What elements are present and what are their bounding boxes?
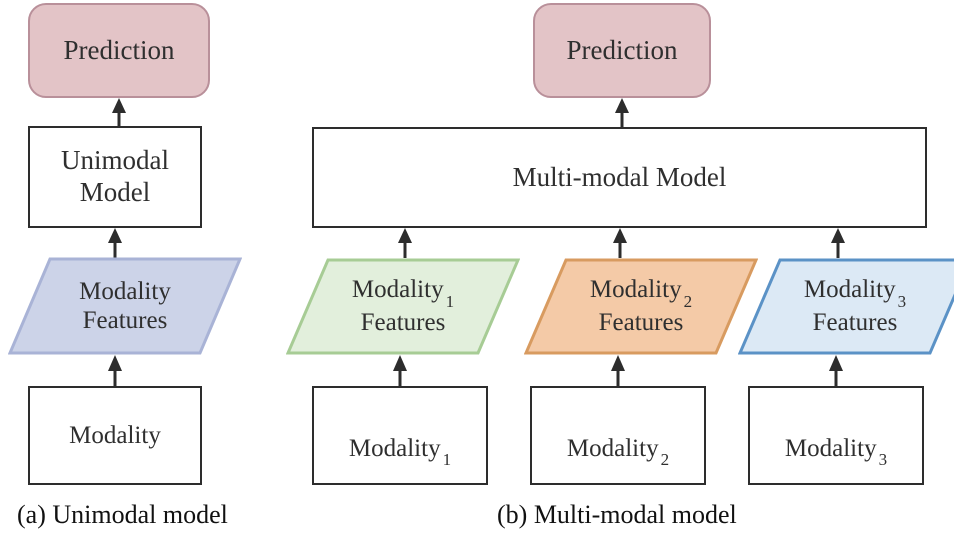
panel-b-features-1-subscript: 1	[444, 292, 455, 311]
panel-b-input-1-label: Modality1	[349, 404, 451, 467]
panel-a-arrow-features-to-model	[105, 228, 125, 258]
panel-b-input-3-label: Modality3	[785, 404, 887, 467]
panel-b-features-3-subscript: 3	[896, 292, 907, 311]
panel-b-input-1-node[interactable]: Modality1	[312, 386, 488, 485]
panel-b-features-2-label: Modality2 Features	[590, 275, 692, 338]
panel-b-input-2-text: Modality	[567, 435, 659, 462]
panel-a-arrow-input-to-features	[105, 355, 125, 387]
panel-b-model-node[interactable]: Multi-modal Model	[312, 127, 927, 228]
panel-b-arrow-input1-to-features1	[390, 355, 410, 387]
panel-a-features-label: Modality Features	[79, 277, 171, 336]
panel-b-features-2-line1: Modality	[590, 276, 682, 303]
panel-b-features-1-line2: Features	[361, 309, 446, 336]
panel-b-arrow-model-to-prediction	[612, 98, 632, 129]
panel-b-caption: (b) Multi-modal model	[497, 500, 737, 530]
panel-a-arrow-model-to-prediction	[109, 98, 129, 128]
panel-a-caption: (a) Unimodal model	[17, 500, 228, 530]
panel-a-features-node[interactable]: Modality Features	[8, 257, 242, 355]
panel-a-model-label: Unimodal Model	[61, 145, 169, 209]
panel-b-arrow-input2-to-features2	[608, 355, 628, 387]
panel-a-prediction-label: Prediction	[64, 35, 175, 67]
panel-b-features-1-label: Modality1 Features	[352, 275, 454, 338]
panel-b-arrow-features3-to-model	[828, 228, 848, 258]
panel-b-features-3-line1: Modality	[804, 276, 896, 303]
panel-a-input-node[interactable]: Modality	[28, 386, 202, 485]
panel-b-features-2-node[interactable]: Modality2 Features	[524, 258, 758, 355]
panel-b-input-3-node[interactable]: Modality3	[748, 386, 924, 485]
panel-b-features-1-node[interactable]: Modality1 Features	[286, 258, 520, 355]
panel-b-features-3-node[interactable]: Modality3 Features	[738, 258, 954, 355]
panel-b-features-3-label: Modality3 Features	[804, 275, 906, 338]
panel-b-prediction-label: Prediction	[567, 35, 678, 67]
panel-b-model-label: Multi-modal Model	[513, 162, 727, 194]
panel-b-input-2-label: Modality2	[567, 404, 669, 467]
panel-b-input-1-text: Modality	[349, 435, 441, 462]
panel-b-input-2-subscript: 2	[659, 450, 670, 469]
panel-b-arrow-features1-to-model	[395, 228, 415, 258]
panel-b-arrow-input3-to-features3	[826, 355, 846, 387]
panel-b-features-3-line2: Features	[813, 309, 898, 336]
panel-b-input-1-subscript: 1	[441, 450, 452, 469]
panel-b-input-3-text: Modality	[785, 435, 877, 462]
panel-a-input-label: Modality	[69, 421, 161, 451]
panel-b-features-1-line1: Modality	[352, 276, 444, 303]
figure-canvas: Prediction Unimodal Model Modality Featu…	[0, 0, 954, 542]
panel-b-features-2-line2: Features	[599, 309, 684, 336]
panel-a-prediction-node[interactable]: Prediction	[28, 3, 210, 98]
panel-b-prediction-node[interactable]: Prediction	[533, 3, 711, 98]
panel-b-input-3-subscript: 3	[877, 450, 888, 469]
panel-b-input-2-node[interactable]: Modality2	[530, 386, 706, 485]
panel-a-model-node[interactable]: Unimodal Model	[28, 126, 202, 228]
panel-b-features-2-subscript: 2	[682, 292, 693, 311]
panel-b-arrow-features2-to-model	[610, 228, 630, 258]
